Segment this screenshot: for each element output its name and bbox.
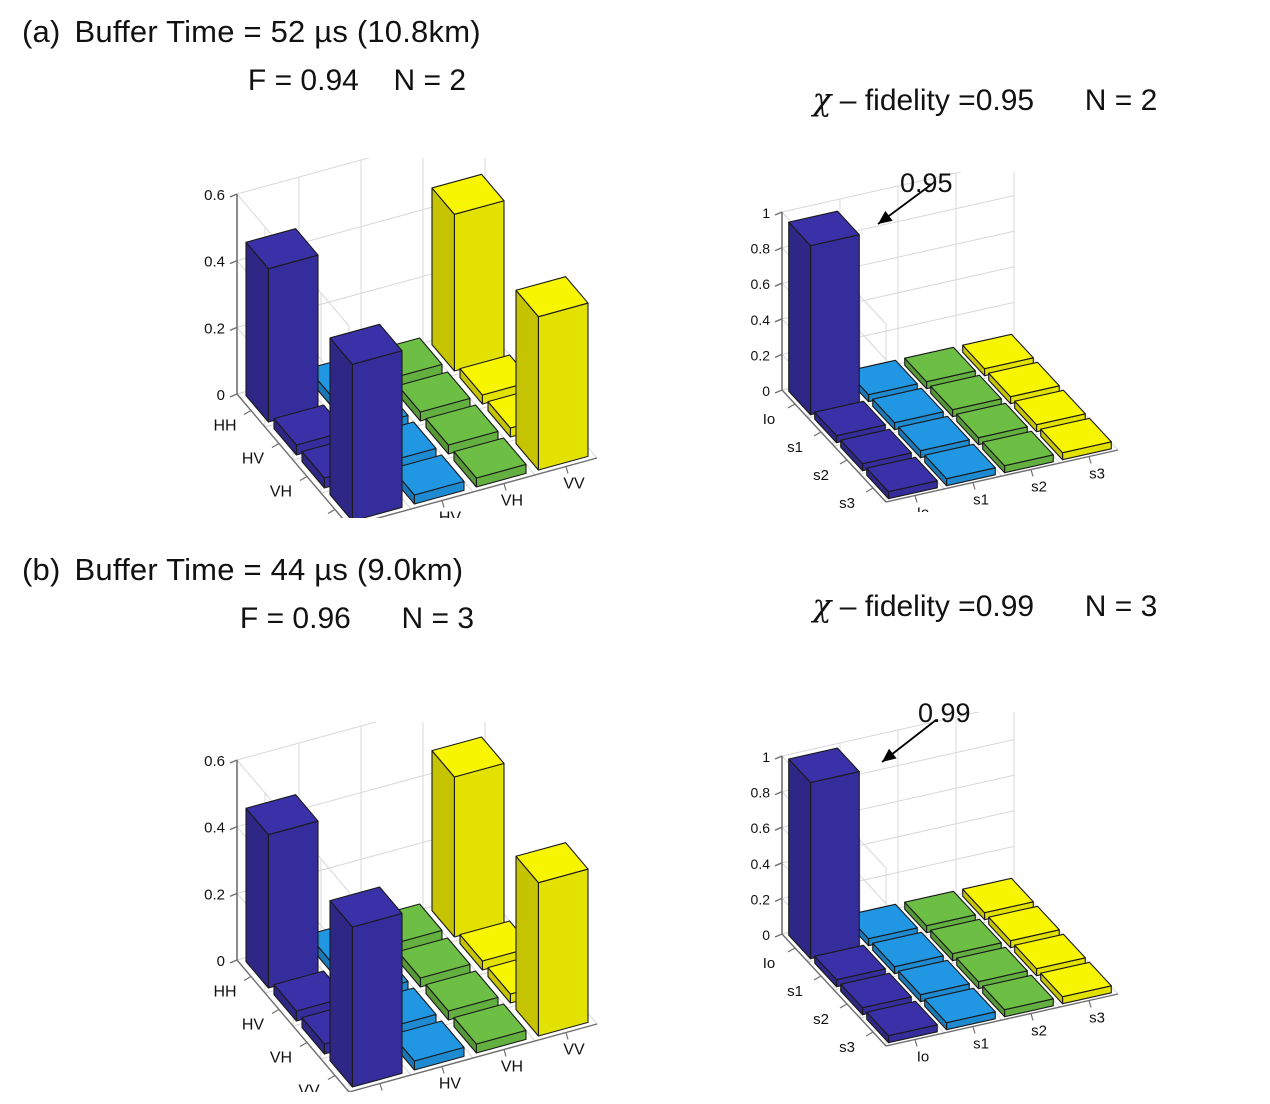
panel-a-chi-fidelity: – fidelity =0.95 <box>840 84 1034 117</box>
svg-text:VH: VH <box>501 493 523 510</box>
svg-text:0.2: 0.2 <box>204 886 225 903</box>
svg-text:Io: Io <box>917 505 930 513</box>
svg-text:0.4: 0.4 <box>751 856 771 872</box>
panel-b-n: N = 3 <box>402 602 475 635</box>
panel-b: (b)Buffer Time = 44 µs (9.0km) F = 0.96 … <box>0 540 1270 1104</box>
panel-a-fidelity: F = 0.94 <box>248 64 359 97</box>
density-matrix-a-svg: 00.20.40.6HHHVVHVVHHHVVHVV <box>95 158 615 518</box>
svg-text:0.2: 0.2 <box>204 320 225 337</box>
panel-b-title: Buffer Time = 44 µs (9.0km) <box>75 552 464 587</box>
panel-a-header: (a)Buffer Time = 52 µs (10.8km) F = 0.94… <box>22 14 662 98</box>
svg-text:Io: Io <box>917 1049 930 1063</box>
chi-a-annotation: 0.95 <box>900 168 953 199</box>
svg-text:HH: HH <box>213 984 236 1001</box>
svg-text:VV: VV <box>298 517 320 519</box>
svg-text:HV: HV <box>439 510 462 519</box>
svg-text:0.6: 0.6 <box>204 187 225 204</box>
chi-b-annotation: 0.99 <box>918 698 971 729</box>
svg-text:VV: VV <box>563 1042 585 1059</box>
svg-text:VH: VH <box>501 1059 523 1076</box>
panel-a-chi-n: N = 2 <box>1085 84 1158 117</box>
svg-text:1: 1 <box>762 749 770 765</box>
panel-b-chi-header: χ – fidelity =0.99 N = 3 <box>700 588 1270 624</box>
svg-text:0.4: 0.4 <box>751 312 771 328</box>
svg-text:s2: s2 <box>1031 479 1047 496</box>
panel-a: (a)Buffer Time = 52 µs (10.8km) F = 0.94… <box>0 0 1270 540</box>
panel-b-chi-n: N = 3 <box>1085 590 1158 623</box>
chi-matrix-a-svg: 00.20.40.60.81Ios1s2s3Ios1s2s3 <box>710 172 1180 512</box>
svg-text:1: 1 <box>762 205 770 221</box>
chi-matrix-b-svg: 00.20.40.60.81Ios1s2s3Ios1s2s3 <box>710 712 1180 1062</box>
panel-a-n: N = 2 <box>394 64 467 97</box>
svg-text:0.6: 0.6 <box>751 276 771 292</box>
panel-b-fidelity: F = 0.96 <box>240 602 351 635</box>
svg-text:s1: s1 <box>973 1036 989 1053</box>
panel-b-chi-fidelity: – fidelity =0.99 <box>840 590 1034 623</box>
svg-text:0.8: 0.8 <box>751 785 771 801</box>
svg-text:VH: VH <box>270 484 292 501</box>
svg-text:s2: s2 <box>813 1011 829 1028</box>
svg-text:s1: s1 <box>787 439 803 456</box>
panel-a-tag: (a) <box>22 14 61 50</box>
panel-b-tag: (b) <box>22 552 61 588</box>
chi-symbol: χ <box>813 588 832 624</box>
svg-text:s1: s1 <box>973 492 989 509</box>
svg-text:VV: VV <box>563 476 585 493</box>
svg-text:s2: s2 <box>813 467 829 484</box>
svg-text:VV: VV <box>298 1083 320 1093</box>
density-matrix-b-chart: 00.20.40.6HHHVVHVVHHHVVHVV <box>95 722 615 1092</box>
svg-text:0.6: 0.6 <box>204 753 225 770</box>
svg-text:0.8: 0.8 <box>751 241 771 257</box>
svg-text:s3: s3 <box>1089 1010 1105 1027</box>
svg-text:VH: VH <box>270 1050 292 1067</box>
svg-text:0: 0 <box>217 387 225 404</box>
svg-text:0: 0 <box>217 953 225 970</box>
panel-b-subtitle: F = 0.96 N = 3 <box>22 602 662 636</box>
panel-a-title: Buffer Time = 52 µs (10.8km) <box>75 14 481 49</box>
svg-text:0.4: 0.4 <box>204 254 225 271</box>
svg-text:s2: s2 <box>1031 1023 1047 1040</box>
chi-symbol: χ <box>813 82 832 118</box>
svg-text:s3: s3 <box>839 1039 855 1056</box>
svg-text:s3: s3 <box>839 495 855 512</box>
svg-text:0.2: 0.2 <box>751 891 771 907</box>
svg-text:0.4: 0.4 <box>204 820 225 837</box>
density-matrix-b-svg: 00.20.40.6HHHVVHVVHHHVVHVV <box>95 722 615 1092</box>
svg-text:Io: Io <box>763 411 776 428</box>
panel-b-header: (b)Buffer Time = 44 µs (9.0km) F = 0.96 … <box>22 552 662 636</box>
svg-text:HV: HV <box>242 1017 265 1034</box>
svg-text:0.6: 0.6 <box>751 820 771 836</box>
svg-text:HH: HH <box>213 418 236 435</box>
svg-text:HV: HV <box>242 451 265 468</box>
panel-a-subtitle: F = 0.94 N = 2 <box>22 64 662 98</box>
svg-text:0.2: 0.2 <box>751 347 771 363</box>
svg-text:HV: HV <box>439 1076 462 1093</box>
svg-text:Io: Io <box>763 955 776 972</box>
panel-b-title-line: (b)Buffer Time = 44 µs (9.0km) <box>22 552 662 588</box>
svg-text:0: 0 <box>762 383 770 399</box>
density-matrix-a-chart: 00.20.40.6HHHVVHVVHHHVVHVV <box>95 158 615 518</box>
chi-matrix-b-chart: 00.20.40.60.81Ios1s2s3Ios1s2s3 <box>710 712 1180 1062</box>
panel-a-title-line: (a)Buffer Time = 52 µs (10.8km) <box>22 14 662 50</box>
svg-text:s3: s3 <box>1089 466 1105 483</box>
svg-text:s1: s1 <box>787 983 803 1000</box>
chi-matrix-a-chart: 00.20.40.60.81Ios1s2s3Ios1s2s3 <box>710 172 1180 512</box>
panel-a-chi-header: χ – fidelity =0.95 N = 2 <box>700 82 1270 118</box>
svg-text:0: 0 <box>762 927 770 943</box>
